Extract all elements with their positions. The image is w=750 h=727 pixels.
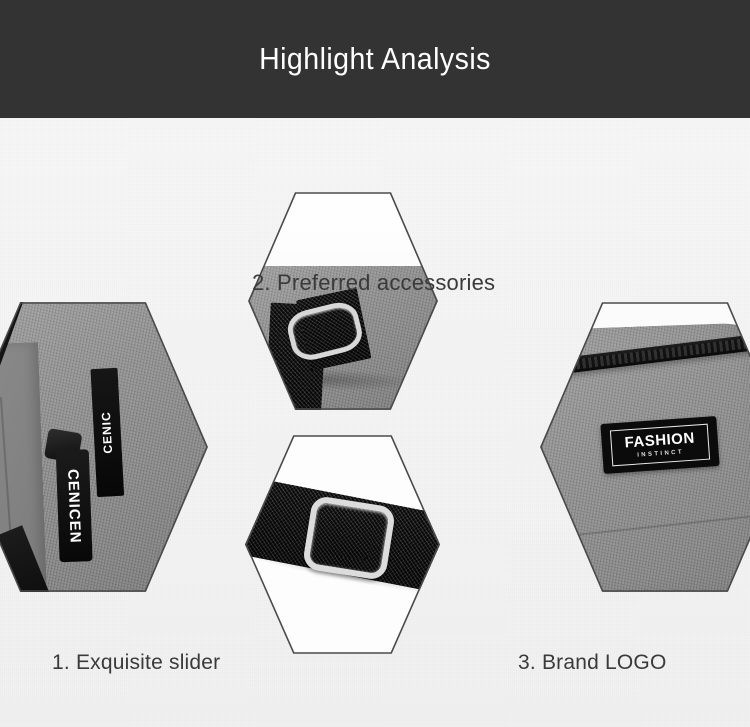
- fabric-brand-tag-text: CENIC: [99, 411, 115, 454]
- feature-photo-exquisite-slider: CENICEN CENIC: [0, 302, 208, 592]
- photo-adjuster-ring: [245, 435, 440, 654]
- feature-photo-preferred-accessories: [248, 192, 438, 410]
- feature-collage: CENICEN CENIC: [0, 118, 750, 727]
- page-title: Highlight Analysis: [259, 41, 491, 77]
- feature-caption-brand-logo: 3. Brand LOGO: [518, 651, 667, 675]
- brand-logo-patch: FASHION INSTINCT: [600, 416, 719, 474]
- fabric-brand-tag: CENIC: [90, 368, 124, 497]
- photo-zipper-slider: CENICEN CENIC: [0, 302, 208, 592]
- bag-body: CENICEN CENIC: [0, 302, 208, 592]
- feature-photo-brand-logo: FASHION INSTINCT: [540, 302, 750, 592]
- zipper-pull-brand-text: CENICEN: [64, 468, 84, 543]
- page-header: Highlight Analysis: [0, 0, 750, 118]
- photo-brand-patch: FASHION INSTINCT: [540, 302, 750, 592]
- feature-photo-hardware-adjustment-ring: [245, 435, 440, 654]
- zipper-pull-tab: CENICEN: [56, 449, 93, 562]
- metal-adjuster-ring: [302, 495, 397, 581]
- feature-caption-exquisite-slider: 1. Exquisite slider: [52, 651, 220, 675]
- photo-strap-dring: [248, 192, 438, 410]
- brand-name-text: FASHION: [624, 431, 695, 451]
- feature-caption-preferred-accessories: 2. Preferred accessories: [252, 270, 495, 296]
- brand-tagline-text: INSTINCT: [637, 449, 684, 458]
- brand-logo-frame: FASHION INSTINCT: [610, 424, 710, 467]
- strap-shadow: [248, 366, 420, 395]
